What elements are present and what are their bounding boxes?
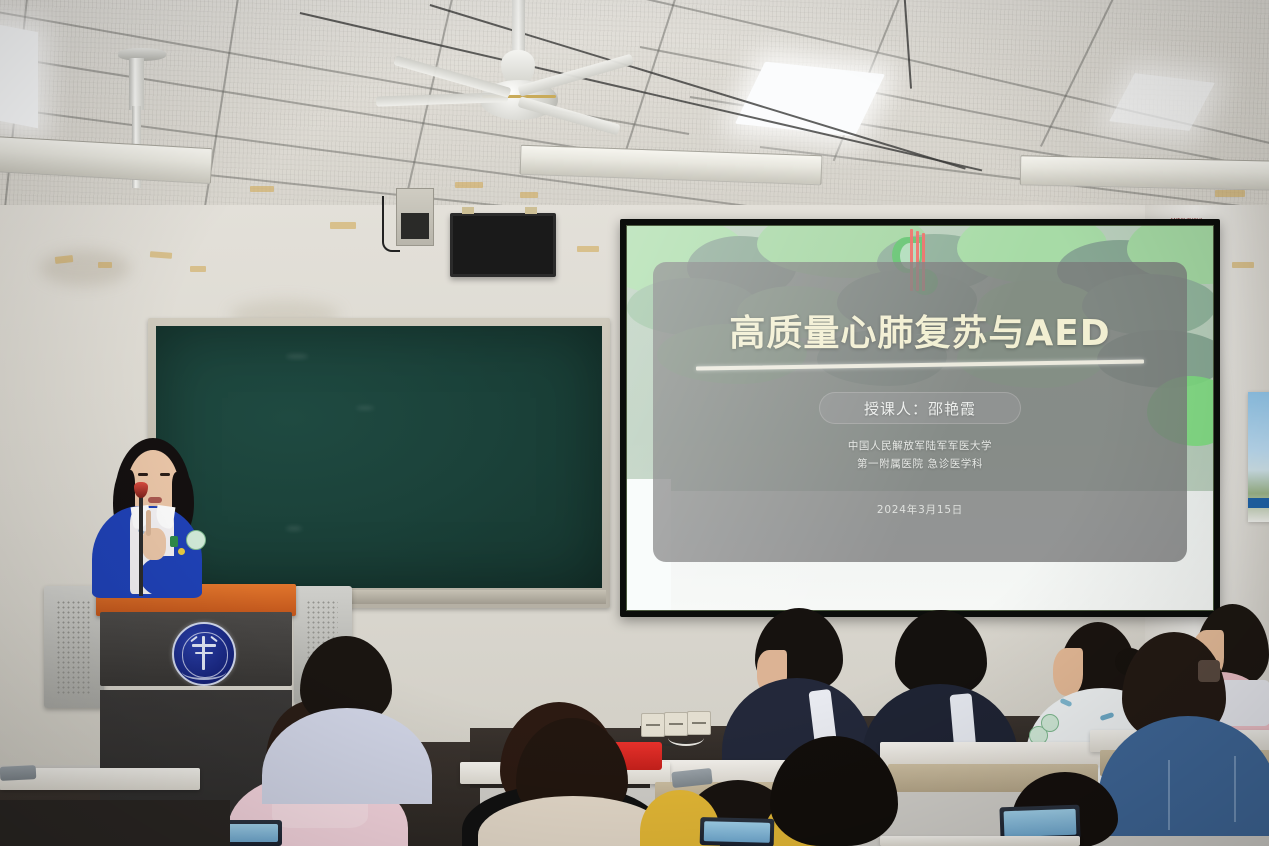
university-emblem [172, 622, 236, 686]
slide-date: 2024年3月15日 [653, 502, 1186, 517]
monitor-bracket [462, 207, 474, 214]
presenter-pin [178, 548, 185, 555]
outlet-slot [646, 724, 660, 726]
wall-tape-mark [98, 262, 112, 268]
poster-color-band [1248, 498, 1269, 508]
tablet-screen [704, 821, 771, 843]
foreground-bench [0, 800, 230, 846]
electrical-box-cable [382, 196, 400, 252]
presenter-finger [146, 510, 151, 536]
emblem-glyph [195, 652, 213, 654]
slide-presenter-pill: 授课人：邵艳霞 [819, 392, 1021, 424]
chalk-smudge [356, 406, 374, 410]
podium-side-panel-left [44, 586, 104, 708]
presenter-badge [186, 530, 206, 550]
wall-tape-mark [250, 186, 274, 192]
presenter-eye [160, 473, 170, 476]
outlet-cable [668, 730, 704, 746]
blackboard-frame [148, 318, 610, 608]
wall-stain [40, 250, 130, 286]
slide-affiliation-line2: 第一附属医院 急诊医学科 [653, 456, 1186, 472]
presenter-mouth [148, 497, 162, 503]
audience-face [1053, 648, 1083, 696]
ceiling-panel-light [0, 24, 38, 129]
electrical-box-label [401, 213, 429, 239]
denim-seam [1234, 756, 1236, 822]
student-desk [880, 742, 1100, 766]
chalk-smudge [286, 526, 302, 531]
wall-tape-mark [577, 246, 599, 252]
presentation-slide: 高质量心肺复苏与AED 授课人：邵艳霞 中国人民解放军陆军军医大学 第一附属医院… [627, 226, 1213, 610]
screen-surface: 高质量心肺复苏与AED 授课人：邵艳霞 中国人民解放军陆军军医大学 第一附属医院… [626, 225, 1214, 611]
podium-speaker-grille [56, 600, 90, 696]
emblem-glyph [192, 644, 216, 647]
wall-tape-mark [330, 222, 356, 229]
presenter-pin [170, 536, 178, 547]
wall-poster [1248, 392, 1269, 522]
pole-upper [129, 58, 144, 110]
audience-shirt [1220, 680, 1269, 726]
wall-tape-mark [1232, 262, 1254, 268]
fluorescent-fixture [1020, 155, 1269, 190]
emblem-wordmark [182, 664, 226, 680]
presenter-eye [138, 473, 148, 476]
audience-badge [1041, 714, 1059, 732]
wall-electrical-box [396, 188, 434, 246]
lecture-hall-photo: MITSUBISHI [0, 0, 1269, 846]
tablet-on-desk[interactable] [700, 817, 775, 846]
denim-seam [1168, 760, 1170, 830]
monitor-bracket [525, 207, 537, 214]
microphone-stem [139, 492, 143, 596]
slide-title: 高质量心肺复苏与AED [653, 304, 1186, 356]
outlet-slot [692, 722, 706, 724]
wall-tape-mark [455, 182, 483, 188]
outlet-slot [669, 723, 683, 725]
slide-title-underline [696, 360, 1144, 371]
hair-clip [1198, 660, 1220, 682]
student-desk [880, 836, 1080, 846]
chalk-smudge [286, 354, 308, 359]
projection-screen: 高质量心肺复苏与AED 授课人：邵艳霞 中国人民解放军陆军军医大学 第一附属医院… [620, 219, 1220, 617]
wall-tape-mark [520, 192, 538, 198]
smartphone-on-desk[interactable] [0, 765, 36, 781]
wall-mounted-monitor [450, 213, 556, 277]
slide-presenter-label: 授课人：邵艳霞 [864, 398, 976, 419]
presenter-arm [140, 556, 198, 598]
wall-tape-mark [190, 266, 206, 272]
slide-affiliation-line1: 中国人民解放军陆军军医大学 [653, 438, 1186, 454]
tablet-screen [1004, 809, 1077, 837]
slide-content-card: 高质量心肺复苏与AED 授课人：邵艳霞 中国人民解放军陆军军医大学 第一附属医院… [653, 262, 1186, 562]
fan-rod [512, 0, 525, 56]
blackboard-surface [156, 326, 602, 588]
wall-tape-mark [1215, 190, 1245, 197]
